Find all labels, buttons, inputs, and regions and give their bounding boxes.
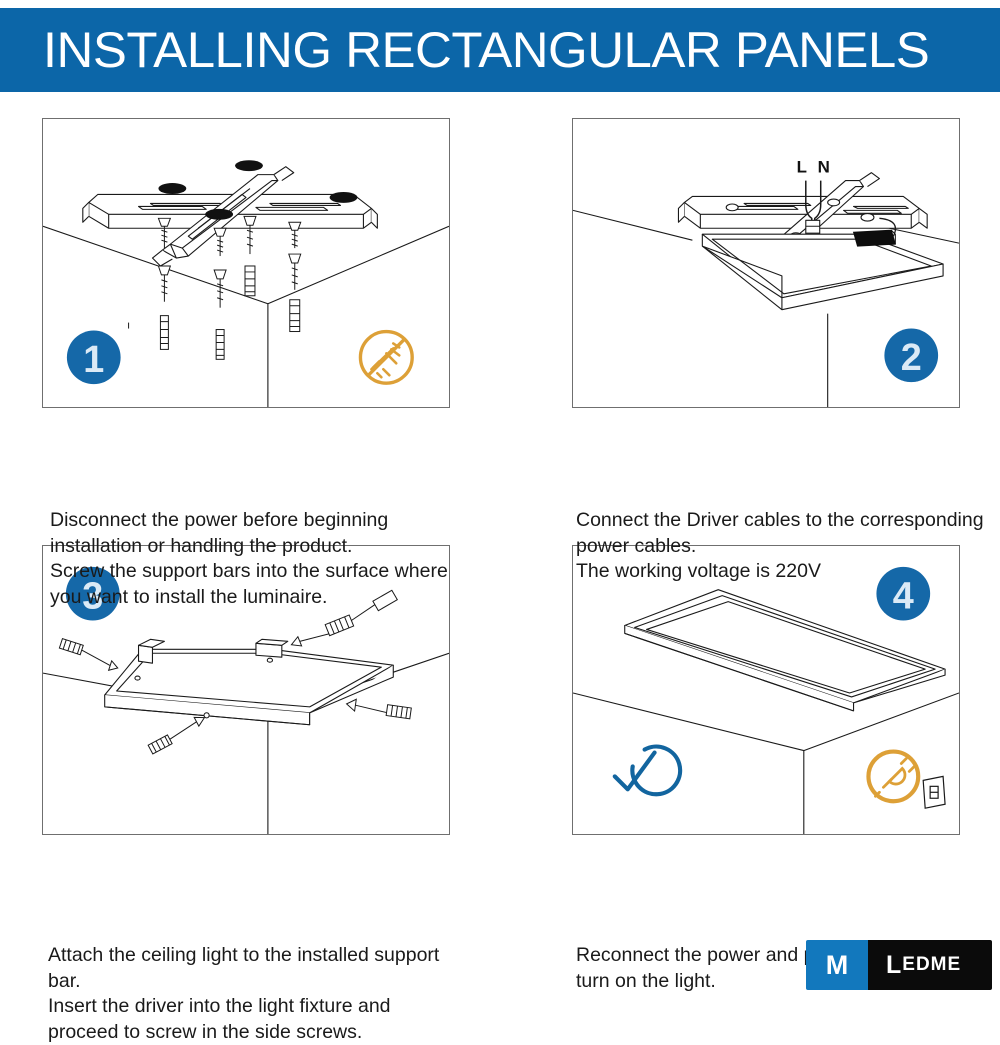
svg-text:1: 1 [83, 339, 104, 381]
step-1-badge: 1 [67, 331, 121, 385]
step-2-badge: 2 [884, 329, 938, 383]
wire-label-N: N [818, 158, 830, 177]
step-1-caption: Disconnect the power before beginning in… [50, 508, 470, 610]
check-circle-icon [615, 747, 680, 795]
step-2-caption: Connect the Driver cables to the corresp… [576, 508, 996, 585]
step-1-frame: 1 [42, 118, 450, 408]
step-1-figure: 1 [42, 118, 450, 408]
instruction-sheet: INSTALLING RECTANGULAR PANELS [0, 0, 1000, 1000]
step-3-caption: Attach the ceiling light to the installe… [48, 943, 468, 1045]
page-header: INSTALLING RECTANGULAR PANELS [0, 8, 1000, 92]
logo-word-rest: EDME [902, 954, 961, 976]
step-4-figure: 4 [572, 545, 960, 835]
no-plug-icon [360, 332, 412, 384]
step-2-frame: L N 2 [572, 118, 960, 408]
logo-word-first: L [886, 951, 902, 980]
svg-text:2: 2 [901, 337, 922, 379]
logo-mark: M [806, 940, 868, 990]
step-4-frame: 4 [572, 545, 960, 835]
wall-switch-icon [923, 776, 945, 808]
brand-logo: M LEDME [806, 940, 992, 990]
page-title: INSTALLING RECTANGULAR PANELS [0, 21, 929, 79]
driver-box-icon [854, 230, 896, 246]
screws-group [129, 216, 301, 359]
logo-wordmark: LEDME [868, 940, 992, 990]
steps-grid: 1 [0, 100, 1000, 960]
plug-circle-icon [868, 752, 918, 802]
wire-label-L: L [797, 158, 807, 177]
step-2-figure: L N 2 [572, 118, 960, 408]
